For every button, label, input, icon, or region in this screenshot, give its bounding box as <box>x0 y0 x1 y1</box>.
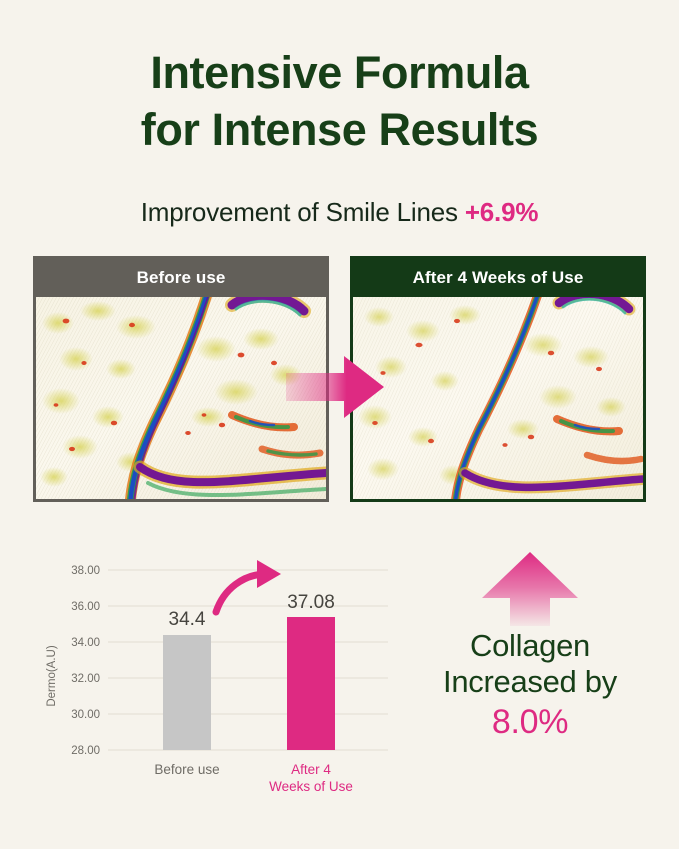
y-tick-label: 34.00 <box>71 637 100 649</box>
bar-before-use <box>163 635 211 750</box>
collagen-line-2: Increased by <box>398 664 662 700</box>
bar-value-label-before: 34.4 <box>169 609 206 630</box>
y-tick-label: 30.00 <box>71 709 100 721</box>
panel-before: Before use <box>33 256 329 502</box>
bar-after-4-weeks <box>287 617 335 750</box>
collagen-callout: Collagen Increased by 8.0% <box>398 552 662 742</box>
panel-after: After 4 Weeks of Use <box>350 256 646 502</box>
y-tick-label: 36.00 <box>71 601 100 613</box>
panel-before-header: Before use <box>36 259 326 297</box>
y-tick-label: 28.00 <box>71 745 100 757</box>
x-axis-labels: Before use After 4 Weeks of Use <box>154 762 353 794</box>
collagen-text: Collagen Increased by 8.0% <box>398 628 662 742</box>
panel-after-header: After 4 Weeks of Use <box>353 259 643 297</box>
x-label-before: Before use <box>154 762 219 777</box>
collagen-line-1: Collagen <box>398 628 662 664</box>
subtitle-text: Improvement of Smile Lines <box>141 197 465 227</box>
chart-gridlines <box>108 570 388 750</box>
skin-analysis-image-after <box>353 297 643 499</box>
comparison-panels: Before use <box>33 256 646 502</box>
y-axis-tick-labels: 38.00 36.00 34.00 32.00 30.00 28.00 <box>71 565 100 757</box>
y-tick-label: 38.00 <box>71 565 100 577</box>
skin-analysis-graphic <box>36 297 326 499</box>
page-title: Intensive Formula for Intense Results <box>0 44 679 158</box>
up-arrow-icon <box>482 552 578 626</box>
page-title-line-1: Intensive Formula <box>150 47 528 98</box>
curved-up-right-arrow-icon <box>216 560 281 612</box>
subtitle: Improvement of Smile Lines +6.9% <box>0 197 679 228</box>
bar-chart-svg: 38.00 36.00 34.00 32.00 30.00 28.00 Derm… <box>36 548 396 798</box>
skin-analysis-image-before <box>36 297 326 499</box>
x-label-after-line-2: Weeks of Use <box>269 779 353 794</box>
bar-value-label-after: 37.08 <box>287 592 335 613</box>
page-title-line-2: for Intense Results <box>0 101 679 158</box>
x-label-after-line-1: After 4 <box>291 762 331 777</box>
collagen-percent: 8.0% <box>398 703 662 743</box>
dermo-bar-chart: 38.00 36.00 34.00 32.00 30.00 28.00 Derm… <box>36 548 396 798</box>
y-tick-label: 32.00 <box>71 673 100 685</box>
y-axis-title: Dermo(A.U) <box>46 645 58 707</box>
subtitle-percent: +6.9% <box>465 197 538 227</box>
skin-analysis-graphic <box>353 297 643 499</box>
